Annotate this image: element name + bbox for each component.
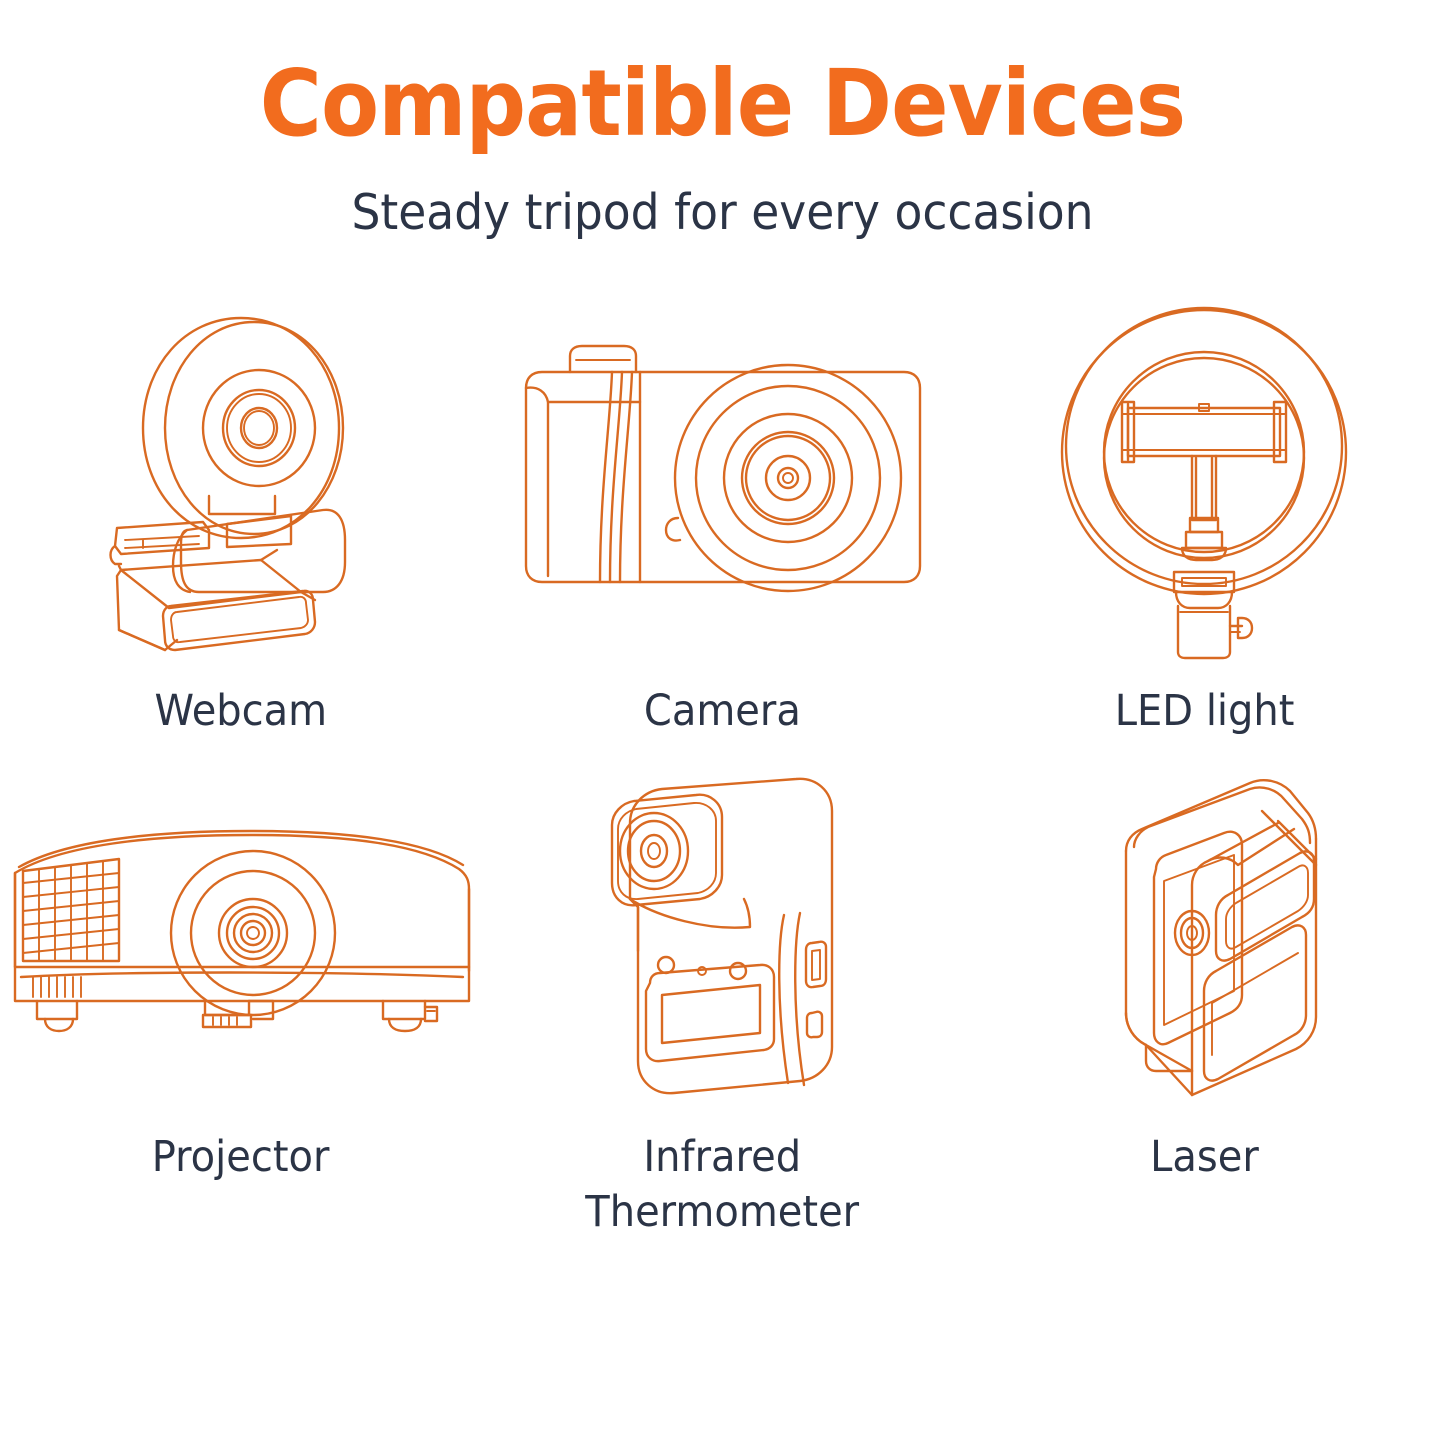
- infrared-thermometer-icon: [588, 765, 858, 1105]
- device-cell-infrared-thermometer: Infrared Thermometer: [482, 760, 964, 1280]
- device-cell-led-light: LED light: [963, 300, 1445, 760]
- webcam-art: [91, 300, 391, 660]
- compatible-devices-infographic: Compatible Devices Steady tripod for eve…: [0, 0, 1445, 1445]
- page-subtitle: Steady tripod for every occasion: [51, 188, 1395, 237]
- device-row-top: Webcam: [0, 300, 1445, 760]
- device-cell-camera: Camera: [482, 300, 964, 760]
- device-label-webcam: Webcam: [155, 684, 328, 739]
- device-label-projector: Projector: [152, 1130, 330, 1185]
- projector-icon: [1, 825, 481, 1045]
- device-grid: Webcam: [0, 300, 1445, 1280]
- led-light-art: [1044, 300, 1364, 660]
- webcam-icon: [91, 300, 391, 660]
- projector-art: [1, 760, 481, 1110]
- infrared-thermometer-art: [588, 760, 858, 1110]
- device-label-camera: Camera: [644, 684, 801, 739]
- device-row-bottom: Projector: [0, 760, 1445, 1280]
- device-label-infrared-thermometer: Infrared Thermometer: [586, 1130, 860, 1240]
- camera-art: [508, 300, 938, 660]
- camera-icon: [508, 330, 938, 630]
- device-cell-projector: Projector: [0, 760, 482, 1280]
- device-cell-laser: Laser: [963, 760, 1445, 1280]
- device-label-led-light: LED light: [1114, 684, 1294, 739]
- header: Compatible Devices Steady tripod for eve…: [0, 0, 1445, 237]
- led-ring-light-icon: [1044, 300, 1364, 660]
- laser-level-icon: [1064, 765, 1344, 1105]
- page-title: Compatible Devices: [58, 58, 1387, 150]
- laser-art: [1064, 760, 1344, 1110]
- device-label-laser: Laser: [1150, 1130, 1259, 1185]
- device-cell-webcam: Webcam: [0, 300, 482, 760]
